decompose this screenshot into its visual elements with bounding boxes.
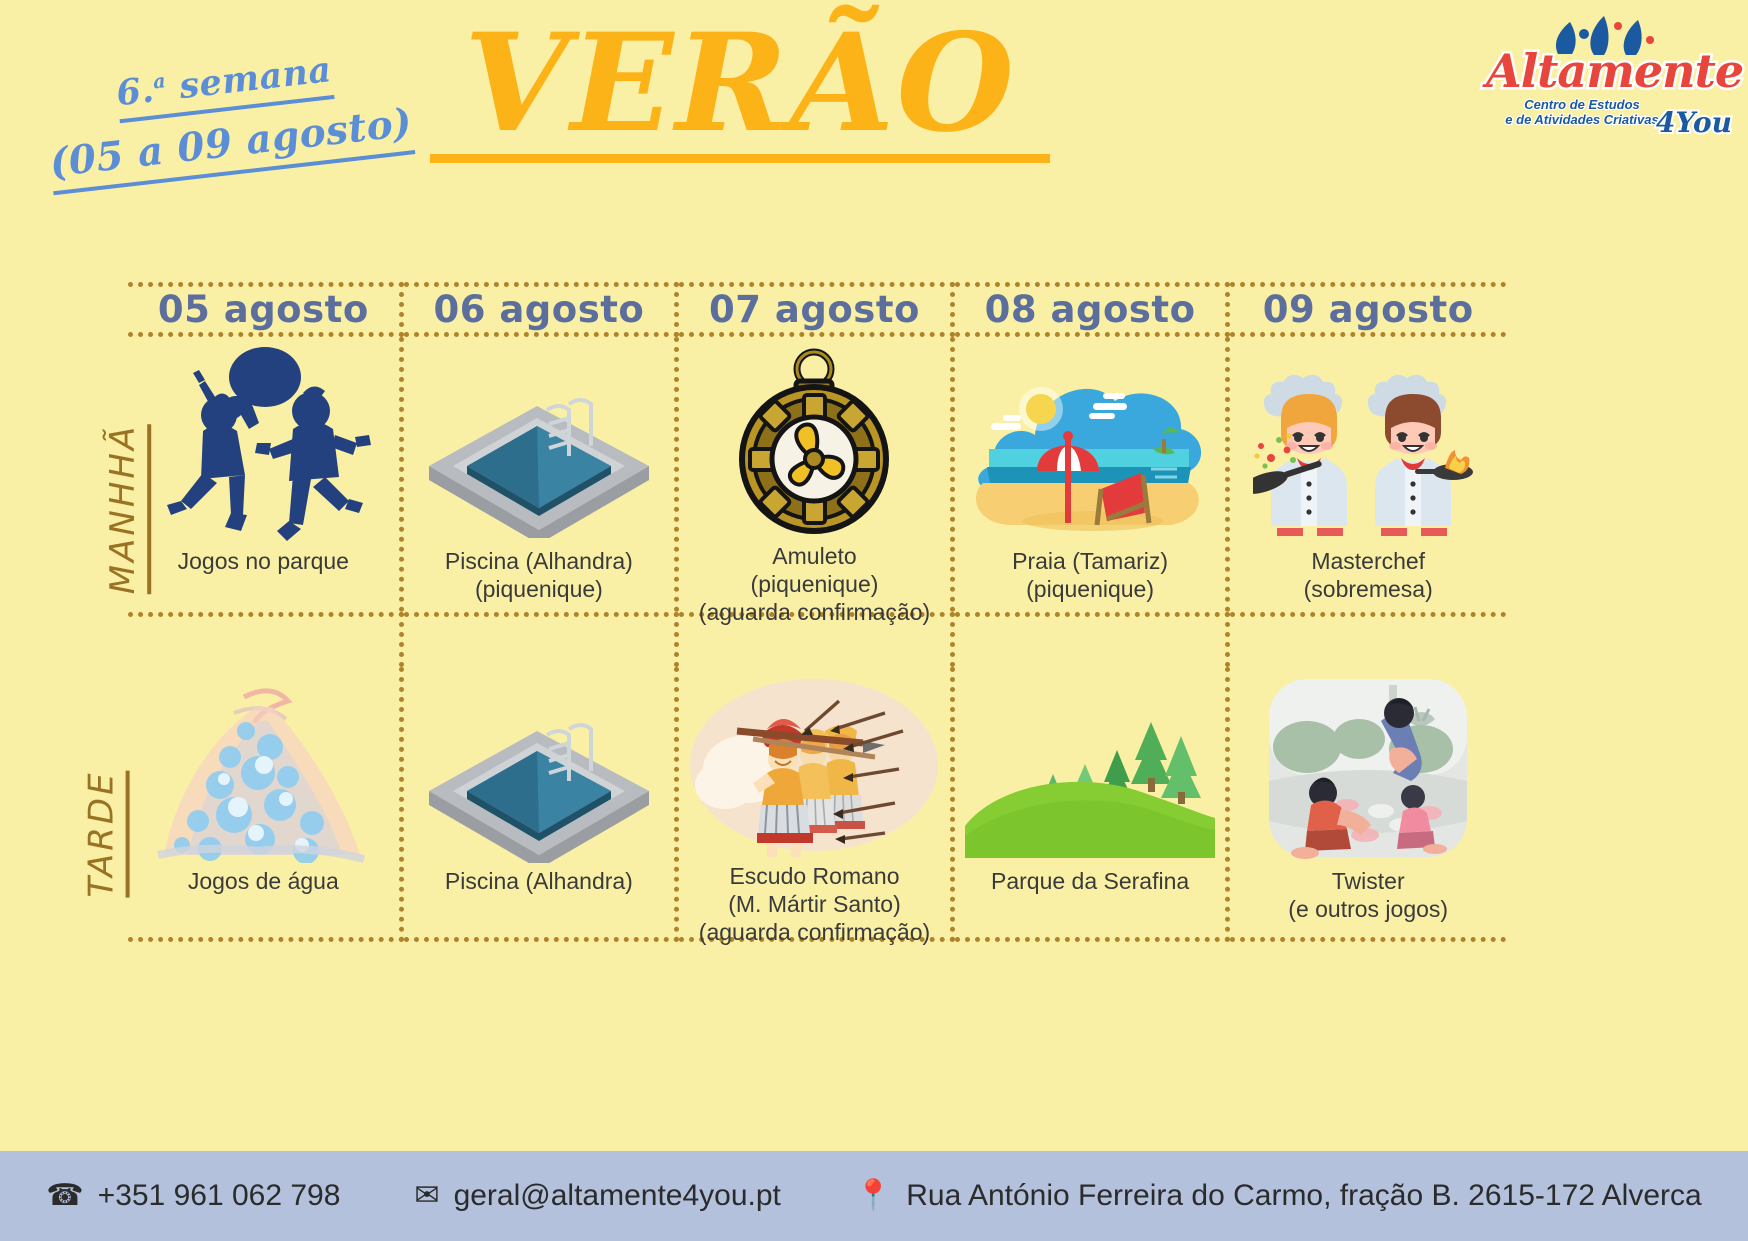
logo-tagline: 4You (1656, 106, 1732, 139)
swimming-pool-icon (404, 343, 675, 543)
logo-name: Altamente (1486, 44, 1736, 98)
map-pin-icon: 📍 (855, 1181, 892, 1211)
caption-afternoon-3: Parque da Serafina (985, 863, 1195, 895)
week-badge: 6.a semana (05 a 09 agosto) (13, 37, 443, 199)
row-label-afternoon: TARDE (82, 770, 130, 897)
cell-afternoon-2: Escudo Romano (M. Mártir Santo) (aguarda… (679, 667, 955, 942)
footer-address-text: Rua António Ferreira do Carmo, fração B.… (906, 1179, 1701, 1213)
footer-address: 📍 Rua António Ferreira do Carmo, fração … (855, 1179, 1702, 1213)
caption-morning-4: Masterchef (sobremesa) (1298, 543, 1439, 603)
logo-subtitle: Centro de Estudos e de Atividades Criati… (1492, 98, 1672, 127)
chef-kids-icon (1230, 343, 1506, 543)
page-title: VERÃO (430, 14, 1050, 163)
cell-morning-3: Praia (Tamariz) (piquenique) (955, 337, 1231, 612)
caption-afternoon-1: Piscina (Alhandra) (439, 863, 639, 895)
poster-root: 6.a semana (05 a 09 agosto) VERÃO Altame… (0, 0, 1748, 1241)
cell-morning-1: Piscina (Alhandra) (piquenique) (404, 337, 680, 612)
day-header-4: 09 agosto (1230, 282, 1506, 337)
row-divider-1 (404, 612, 680, 667)
swimming-pool-icon (404, 673, 675, 863)
beach-scene-icon (955, 343, 1226, 543)
caption-morning-2: Amuleto (piquenique) (aguarda confirmaçã… (693, 538, 936, 626)
day-header-1: 06 agosto (404, 282, 680, 337)
day-header-2: 07 agosto (679, 282, 955, 337)
logo-subtitle-line-2: e de Atividades Criativas (1492, 113, 1672, 128)
cell-afternoon-3: Parque da Serafina (955, 667, 1231, 942)
day-header-3: 08 agosto (955, 282, 1231, 337)
cell-afternoon-0: Jogos de água (128, 667, 404, 942)
schedule-grid: 05 agosto 06 agosto 07 agosto 08 agosto … (128, 282, 1506, 997)
caption-afternoon-4: Twister (e outros jogos) (1282, 863, 1454, 923)
caption-afternoon-2: Escudo Romano (M. Mártir Santo) (aguarda… (693, 858, 936, 946)
kids-playing-ball-icon (128, 343, 399, 543)
cell-afternoon-1: Piscina (Alhandra) (404, 667, 680, 942)
day-header-0: 05 agosto (128, 282, 404, 337)
caption-morning-0: Jogos no parque (172, 543, 355, 575)
contact-footer: ☎ +351 961 062 798 ✉ geral@altamente4you… (0, 1151, 1748, 1241)
row-divider-3 (955, 612, 1231, 667)
footer-phone: ☎ +351 961 062 798 (46, 1179, 340, 1213)
cell-afternoon-4: Twister (e outros jogos) (1230, 667, 1506, 942)
row-divider-0 (128, 612, 404, 667)
cell-morning-4: Masterchef (sobremesa) (1230, 337, 1506, 612)
green-park-hill-icon (955, 673, 1226, 863)
cell-morning-2: Amuleto (piquenique) (aguarda confirmaçã… (679, 337, 955, 612)
roman-soldiers-shield-icon (679, 673, 950, 858)
logo-subtitle-line-1: Centro de Estudos (1492, 98, 1672, 113)
water-splash-bubbles-icon (128, 673, 399, 863)
caption-morning-1: Piscina (Alhandra) (piquenique) (439, 543, 639, 603)
footer-email: ✉ geral@altamente4you.pt (414, 1179, 780, 1213)
cell-morning-0: Jogos no parque (128, 337, 404, 612)
row-divider-4 (1230, 612, 1506, 667)
footer-email-text: geral@altamente4you.pt (454, 1179, 781, 1213)
kids-twister-game-icon (1230, 673, 1506, 863)
envelope-icon: ✉ (414, 1181, 439, 1211)
footer-phone-text: +351 961 062 798 (98, 1179, 341, 1213)
page-title-text: VERÃO (430, 14, 1050, 152)
telephone-icon: ☎ (46, 1181, 83, 1211)
caption-afternoon-0: Jogos de água (182, 863, 345, 895)
amulet-medallion-icon (679, 343, 950, 538)
brand-logo: Altamente Centro de Estudos e de Ativida… (1486, 14, 1736, 150)
caption-morning-3: Praia (Tamariz) (piquenique) (1006, 543, 1174, 603)
